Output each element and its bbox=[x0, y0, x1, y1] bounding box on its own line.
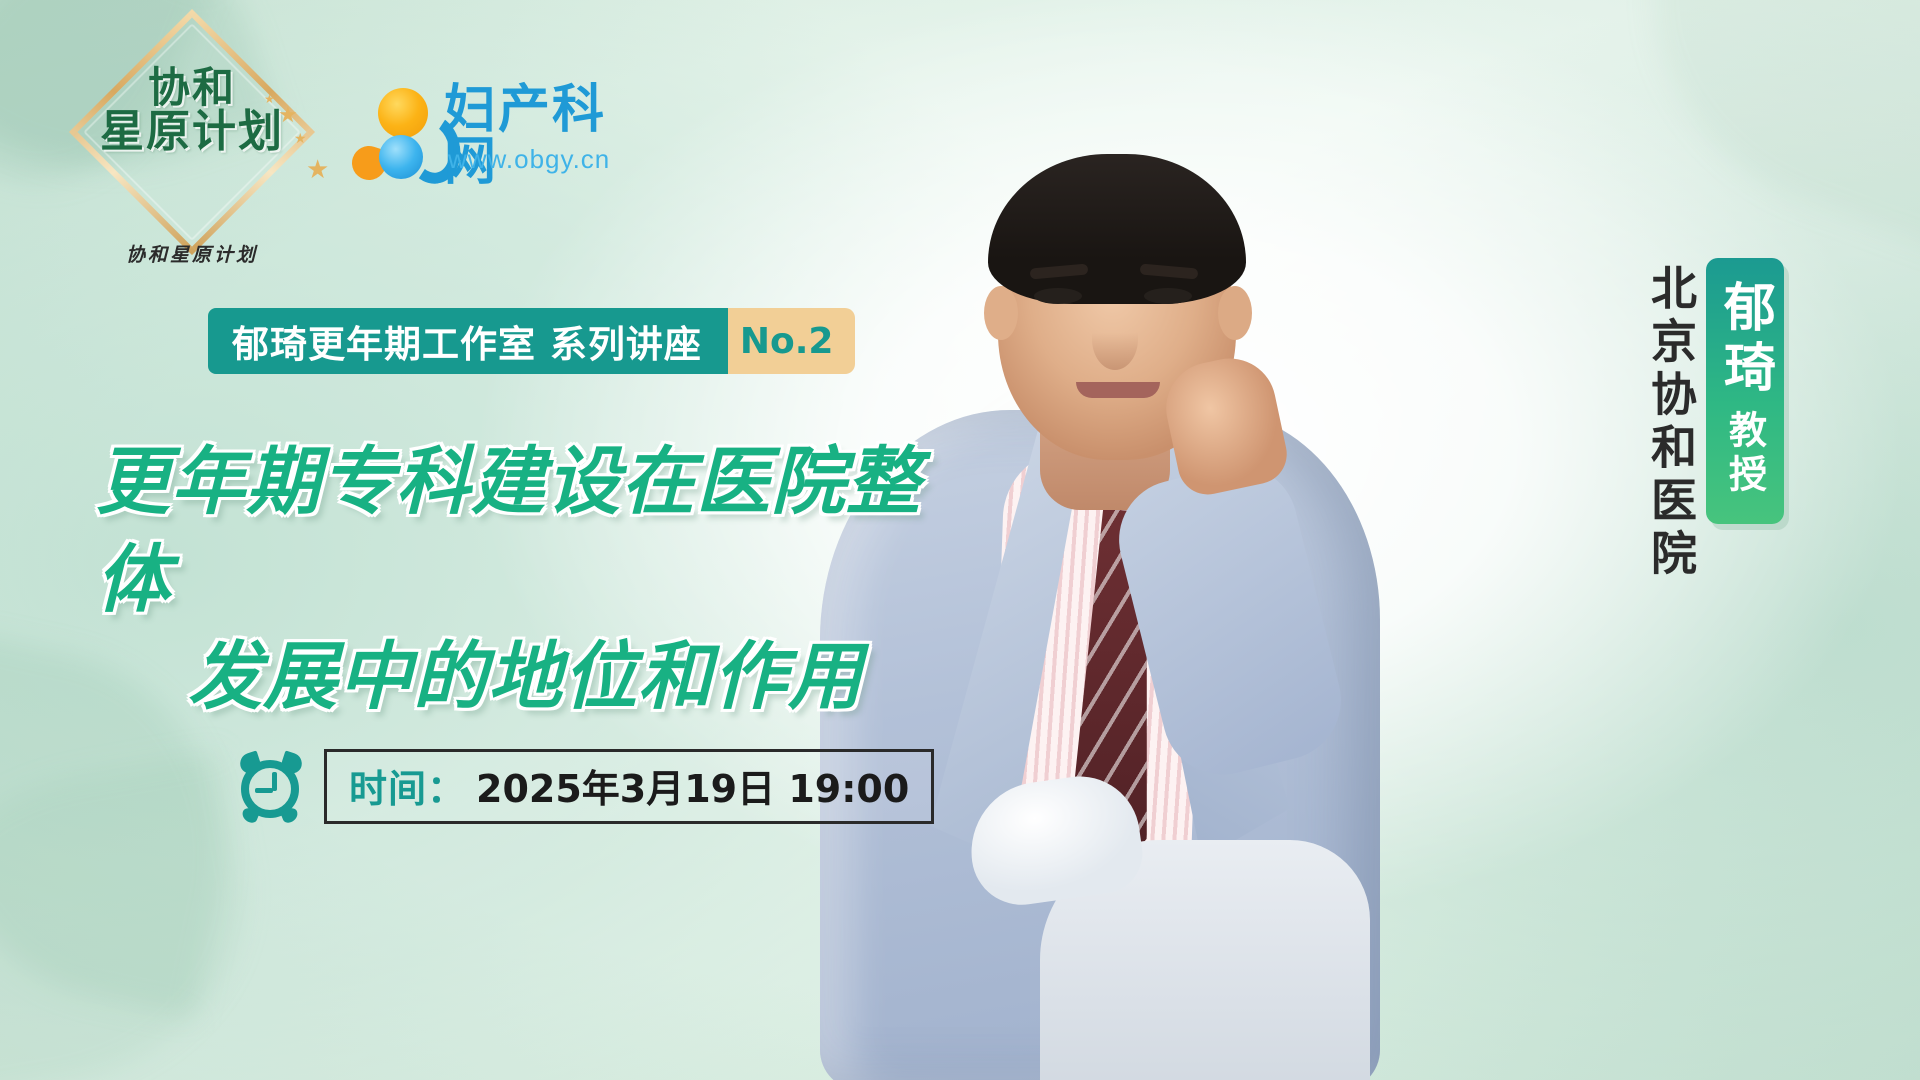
xiehe-logo-caption: 协和星原计划 bbox=[72, 240, 312, 267]
portrait-nose bbox=[1092, 308, 1138, 370]
portrait-eye-left bbox=[1034, 288, 1082, 304]
series-label: 郁琦更年期工作室 系列讲座 bbox=[208, 308, 728, 374]
xiehe-logo-text: 协和 星原计划 bbox=[72, 66, 312, 155]
portrait-ear-left bbox=[984, 286, 1018, 340]
xiehe-program-logo: 协和 星原计划 ★ ★ ★ ★ 协和星原计划 bbox=[72, 44, 312, 234]
series-number-badge: No.2 bbox=[710, 308, 856, 374]
speaker-hospital: 北京协和医院 bbox=[1648, 258, 1694, 582]
schedule-row: 时间： 2025年3月19日 19:00 bbox=[236, 748, 934, 824]
star-icon: ★ bbox=[294, 130, 307, 147]
alarm-clock-icon bbox=[236, 748, 310, 824]
portrait-eye-right bbox=[1144, 288, 1192, 304]
star-icon: ★ bbox=[278, 102, 298, 128]
schedule-label: 时间： bbox=[349, 758, 466, 813]
speaker-name-badge: 郁琦 教授 bbox=[1706, 258, 1784, 524]
schedule-box: 时间： 2025年3月19日 19:00 bbox=[324, 749, 934, 824]
page-title: 更年期专科建设在医院整体 发展中的地位和作用 bbox=[96, 434, 976, 727]
portrait-mouth bbox=[1076, 382, 1160, 398]
star-icon: ★ bbox=[306, 154, 329, 185]
speaker-credentials: 北京协和医院 郁琦 教授 bbox=[1648, 258, 1784, 582]
child-head-icon bbox=[379, 135, 423, 179]
speaker-name: 郁琦 bbox=[1708, 280, 1783, 400]
title-line-2: 发展中的地位和作用 bbox=[96, 629, 976, 727]
obgy-logo-url: www.obgy.cn bbox=[448, 144, 610, 175]
star-icon: ★ bbox=[264, 92, 275, 106]
obgy-figure-icon bbox=[348, 88, 436, 172]
poster-canvas: 协和 星原计划 ★ ★ ★ ★ 协和星原计划 妇产科网 www.obgy.cn bbox=[0, 0, 1920, 1080]
speaker-rank: 教授 bbox=[1718, 410, 1773, 498]
xiehe-logo-line1: 协和 bbox=[148, 63, 236, 112]
obgy-site-logo[interactable]: 妇产科网 www.obgy.cn bbox=[348, 84, 648, 176]
series-banner: 郁琦更年期工作室 系列讲座 No.2 bbox=[208, 308, 855, 374]
schedule-value: 2025年3月19日 19:00 bbox=[476, 758, 909, 813]
portrait-ear-right bbox=[1218, 286, 1252, 340]
xiehe-logo-line2: 星原计划 bbox=[100, 106, 284, 157]
title-line-1: 更年期专科建设在医院整体 bbox=[96, 434, 976, 629]
portrait-hair bbox=[988, 154, 1246, 304]
